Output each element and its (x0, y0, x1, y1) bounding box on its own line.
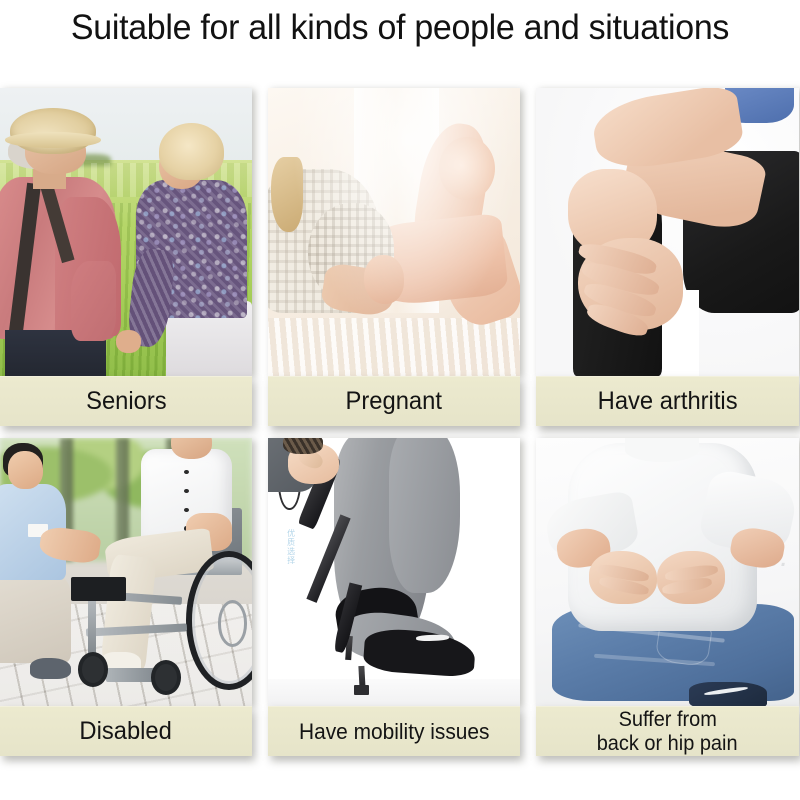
caption-pregnant: Pregnant (268, 376, 520, 426)
straw-hat (10, 108, 96, 154)
shoe-lace (704, 686, 748, 696)
held-hands (116, 330, 141, 353)
caption-back-hip-pain: Suffer from back or hip pain (536, 706, 799, 756)
floor (268, 679, 520, 706)
caregiver-shoe (30, 658, 70, 679)
use-case-cell-disabled[interactable]: Disabled (0, 438, 252, 800)
caption-line: Pregnant (346, 388, 442, 414)
photo-pregnant (268, 88, 520, 376)
woman-hair (159, 123, 225, 181)
photo-mobility: 优质选择 (268, 438, 520, 706)
promo-image: Suitable for all kinds of people and sit… (0, 0, 800, 800)
shoe (689, 682, 768, 706)
use-case-cell-pregnant[interactable]: Pregnant (268, 88, 520, 438)
caption-line: Have mobility issues (299, 720, 489, 743)
caption-line: Seniors (86, 388, 167, 414)
window-glow (268, 88, 520, 376)
caption-disabled: Disabled (0, 706, 252, 756)
caregiver-head (8, 451, 43, 489)
collar (625, 438, 699, 462)
caption-line: Disabled (80, 718, 172, 744)
use-case-cell-arthritis[interactable]: Have arthritis (536, 88, 799, 438)
watermark-text: 优质选择 (286, 529, 297, 565)
leg-back-grey-legging (389, 438, 460, 593)
caption-line: back or hip pain (597, 732, 738, 756)
wheelchair-footrest (71, 577, 126, 601)
wheelchair-frame-post (88, 599, 96, 658)
caregiver-trousers (0, 572, 71, 663)
photo-disabled (0, 438, 252, 706)
heel-tip (354, 685, 369, 696)
photo-back-hip-pain: me. (536, 438, 799, 706)
caption-mobility: Have mobility issues (268, 706, 520, 756)
shoe-trim (416, 635, 449, 642)
man-arm (71, 261, 116, 342)
caption-line: Have arthritis (598, 388, 738, 414)
bracelet (283, 438, 323, 454)
use-case-cell-mobility[interactable]: 优质选择 Have mobility issues (268, 438, 520, 800)
shirt-button (184, 508, 189, 512)
caption-line: Suffer from (618, 708, 716, 732)
high-heel-front (362, 627, 476, 678)
caption-arthritis: Have arthritis (536, 376, 799, 426)
use-case-grid: Seniors Pregnant (0, 88, 800, 800)
caption-seniors: Seniors (0, 376, 252, 426)
photo-arthritis (536, 88, 799, 376)
page-title: Suitable for all kinds of people and sit… (12, 0, 788, 54)
use-case-cell-seniors[interactable]: Seniors (0, 88, 252, 438)
use-case-cell-back-hip-pain[interactable]: me. S (536, 438, 799, 800)
photo-seniors (0, 88, 252, 376)
